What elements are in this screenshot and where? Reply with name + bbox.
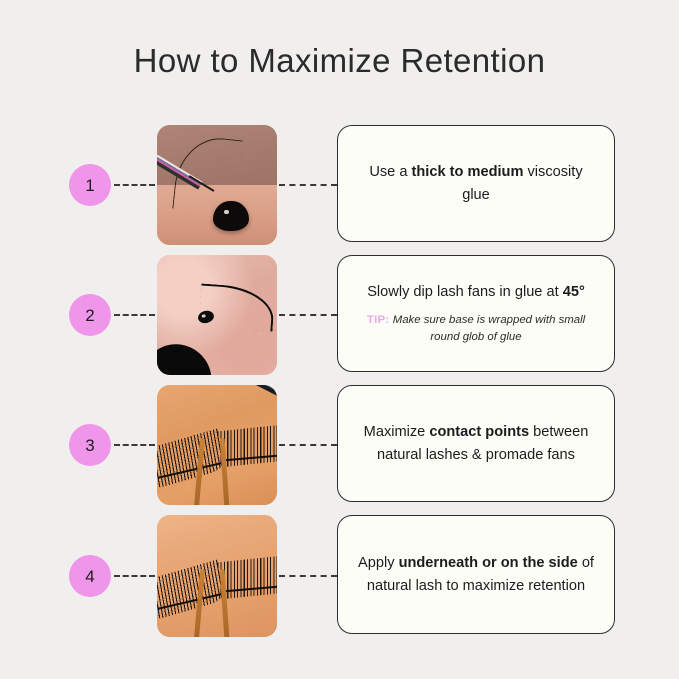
infographic-root: How to Maximize Retention 1 Use a thick … — [0, 0, 679, 679]
step-card: Slowly dip lash fans in glue at 45° TIP:… — [337, 255, 615, 372]
step-text: Use a thick to medium viscosity glue — [354, 161, 598, 206]
step-row: 3 Maximize contact points between natura — [0, 385, 679, 505]
connector-badge-to-image — [114, 444, 155, 446]
lash-fan-dipped-in-glue-photo — [157, 255, 277, 375]
connector-badge-to-image — [114, 575, 155, 577]
step-text: Maximize contact points between natural … — [354, 421, 598, 466]
step-tip: TIP: Make sure base is wrapped with smal… — [354, 312, 598, 346]
connector-image-to-card — [279, 184, 337, 186]
connector-image-to-card — [279, 575, 337, 577]
connector-image-to-card — [279, 314, 337, 316]
step-number-badge: 4 — [69, 555, 111, 597]
connector-badge-to-image — [114, 184, 155, 186]
page-title: How to Maximize Retention — [0, 42, 679, 80]
step-row: 2 Slowly dip lash fans in glue at 45° TI… — [0, 255, 679, 375]
step-number-badge: 1 — [69, 164, 111, 206]
step-card: Maximize contact points between natural … — [337, 385, 615, 502]
step-card: Apply underneath or on the side of natur… — [337, 515, 615, 634]
glue-drop-on-skin-photo — [157, 125, 277, 245]
step-row: 1 Use a thick to medium viscosity glue — [0, 125, 679, 245]
step-thumbnail — [157, 125, 277, 245]
step-thumbnail — [157, 385, 277, 505]
contact-points-lash-closeup-photo — [157, 385, 277, 505]
step-text: Apply underneath or on the side of natur… — [354, 552, 598, 597]
step-text: Slowly dip lash fans in glue at 45° — [367, 281, 585, 303]
step-number-badge: 3 — [69, 424, 111, 466]
step-number-badge: 2 — [69, 294, 111, 336]
tip-label: TIP: — [367, 314, 390, 326]
connector-image-to-card — [279, 444, 337, 446]
step-thumbnail — [157, 515, 277, 637]
apply-underneath-lash-photo — [157, 515, 277, 637]
step-row: 4 Apply underneath or on the side of nat — [0, 515, 679, 637]
tip-text: Make sure base is wrapped with small rou… — [393, 314, 585, 343]
steps-list: 1 Use a thick to medium viscosity glue — [0, 125, 679, 647]
step-thumbnail — [157, 255, 277, 375]
connector-badge-to-image — [114, 314, 155, 316]
step-card: Use a thick to medium viscosity glue — [337, 125, 615, 242]
